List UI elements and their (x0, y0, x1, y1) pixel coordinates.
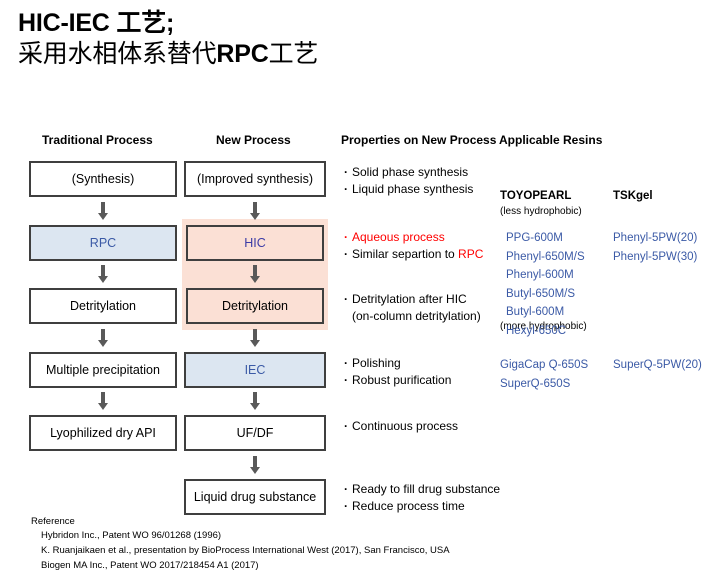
process-box-liquid-drug-substance[interactable]: Liquid drug substance (184, 479, 326, 515)
reference-item: K. Ruanjaikaen et al., presentation by B… (31, 543, 671, 558)
resin-list-toyopearl-iec: GigaCap Q-650S SuperQ-650S (500, 356, 588, 393)
down-arrow-icon (96, 264, 110, 284)
process-box-synthesis[interactable]: (Synthesis) (29, 161, 177, 197)
properties-group-detritylation: Detritylation after HIC (on-column detri… (344, 291, 481, 325)
process-box-rpc[interactable]: RPC (29, 225, 177, 261)
property-text-rpc-red: RPC (458, 247, 483, 261)
process-box-label: IEC (245, 363, 266, 377)
resin-brand-header-tskgel: TSKgel (613, 190, 653, 202)
property-bullet: Ready to fill drug substance (344, 481, 500, 498)
process-box-multiple-precipitation[interactable]: Multiple precipitation (29, 352, 177, 388)
process-box-iec[interactable]: IEC (184, 352, 326, 388)
process-box-ufdf[interactable]: UF/DF (184, 415, 326, 451)
column-header-properties: Properties on New Process (341, 133, 499, 147)
title-line-2: 采用水相体系替代RPC工艺 (18, 39, 708, 70)
down-arrow-icon (96, 201, 110, 221)
page-title: HIC-IEC 工艺; 采用水相体系替代RPC工艺 (18, 8, 708, 70)
property-bullet: Robust purification (344, 372, 451, 389)
property-bullet: Reduce process time (344, 498, 500, 515)
property-bullet: Detritylation after HIC (344, 291, 481, 308)
resin-item[interactable]: Butyl-600M (506, 303, 585, 322)
down-arrow-icon (248, 328, 262, 348)
process-box-detritylation-traditional[interactable]: Detritylation (29, 288, 177, 324)
property-bullet: Continuous process (344, 418, 458, 435)
process-box-hic[interactable]: HIC (186, 225, 324, 261)
process-box-label: Detritylation (70, 299, 136, 313)
column-header-applicable-resins: Applicable Resins (499, 133, 602, 147)
resin-item[interactable]: SuperQ-5PW(20) (613, 356, 702, 375)
reference-section: Reference Hybridon Inc., Patent WO 96/01… (31, 515, 671, 573)
resin-item[interactable]: PPG-600M (506, 229, 585, 248)
down-arrow-icon (248, 455, 262, 475)
resin-item[interactable]: Phenyl-650M/S (506, 248, 585, 267)
reference-title: Reference (31, 515, 671, 528)
property-bullet: Liquid phase synthesis (344, 181, 473, 198)
resin-list-tskgel-hic: Phenyl-5PW(20) Phenyl-5PW(30) (613, 229, 697, 266)
resin-item[interactable]: SuperQ-650S (500, 375, 588, 394)
process-box-label: HIC (244, 236, 266, 250)
process-box-detritylation-new[interactable]: Detritylation (186, 288, 324, 324)
resin-item[interactable]: Hexyl-650C (506, 322, 585, 341)
resin-item[interactable]: Phenyl-5PW(20) (613, 229, 697, 248)
properties-group-continuous: Continuous process (344, 418, 458, 435)
title-line-1: HIC-IEC 工艺; (18, 8, 708, 39)
down-arrow-icon (248, 264, 262, 284)
process-box-label: RPC (90, 236, 116, 250)
resin-list-toyopearl-hic: PPG-600M Phenyl-650M/S Phenyl-600M Butyl… (506, 229, 585, 340)
reference-item: Biogen MA Inc., Patent WO 2017/218454 A1… (31, 558, 671, 573)
down-arrow-icon (96, 328, 110, 348)
resin-note-less-hydrophobic: (less hydrophobic) (500, 206, 582, 217)
reference-item: Hybridon Inc., Patent WO 96/01268 (1996) (31, 528, 671, 543)
resin-item[interactable]: Butyl-650M/S (506, 285, 585, 304)
down-arrow-icon (248, 391, 262, 411)
property-text: Similar separtion to (352, 247, 458, 261)
down-arrow-icon (96, 391, 110, 411)
property-bullet-similar-separation: Similar separtion to RPC (344, 246, 483, 263)
process-box-label: (Synthesis) (72, 172, 135, 186)
resin-item[interactable]: Phenyl-5PW(30) (613, 248, 697, 267)
process-box-label: Liquid drug substance (194, 490, 316, 504)
process-box-label: Multiple precipitation (46, 363, 160, 377)
process-box-label: Detritylation (222, 299, 288, 313)
title-line-2-prefix: 采用水相体系替代 (18, 40, 216, 68)
resin-brand-header-toyopearl: TOYOPEARL (500, 190, 571, 202)
column-header-traditional-process: Traditional Process (42, 133, 153, 147)
process-box-lyophilized-dry-api[interactable]: Lyophilized dry API (29, 415, 177, 451)
properties-group-aqueous: Aqueous process Similar separtion to RPC (344, 229, 483, 263)
property-bullet-aqueous-process: Aqueous process (344, 229, 483, 246)
resin-list-tskgel-iec: SuperQ-5PW(20) (613, 356, 702, 375)
process-box-improved-synthesis[interactable]: (Improved synthesis) (184, 161, 326, 197)
properties-group-ready: Ready to fill drug substance Reduce proc… (344, 481, 500, 515)
title-line-2-suffix: 工艺 (269, 40, 319, 68)
column-header-new-process: New Process (216, 133, 291, 147)
resin-item[interactable]: Phenyl-600M (506, 266, 585, 285)
properties-group-polishing: Polishing Robust purification (344, 355, 451, 389)
process-box-label: UF/DF (237, 426, 274, 440)
process-box-label: Lyophilized dry API (50, 426, 156, 440)
process-box-label: (Improved synthesis) (197, 172, 313, 186)
property-subtext: (on-column detritylation) (344, 308, 481, 325)
properties-group-synthesis: Solid phase synthesis Liquid phase synth… (344, 164, 473, 198)
down-arrow-icon (248, 201, 262, 221)
title-line-2-bold: RPC (216, 40, 268, 68)
property-bullet: Solid phase synthesis (344, 164, 473, 181)
resin-item[interactable]: GigaCap Q-650S (500, 356, 588, 375)
property-bullet: Polishing (344, 355, 451, 372)
